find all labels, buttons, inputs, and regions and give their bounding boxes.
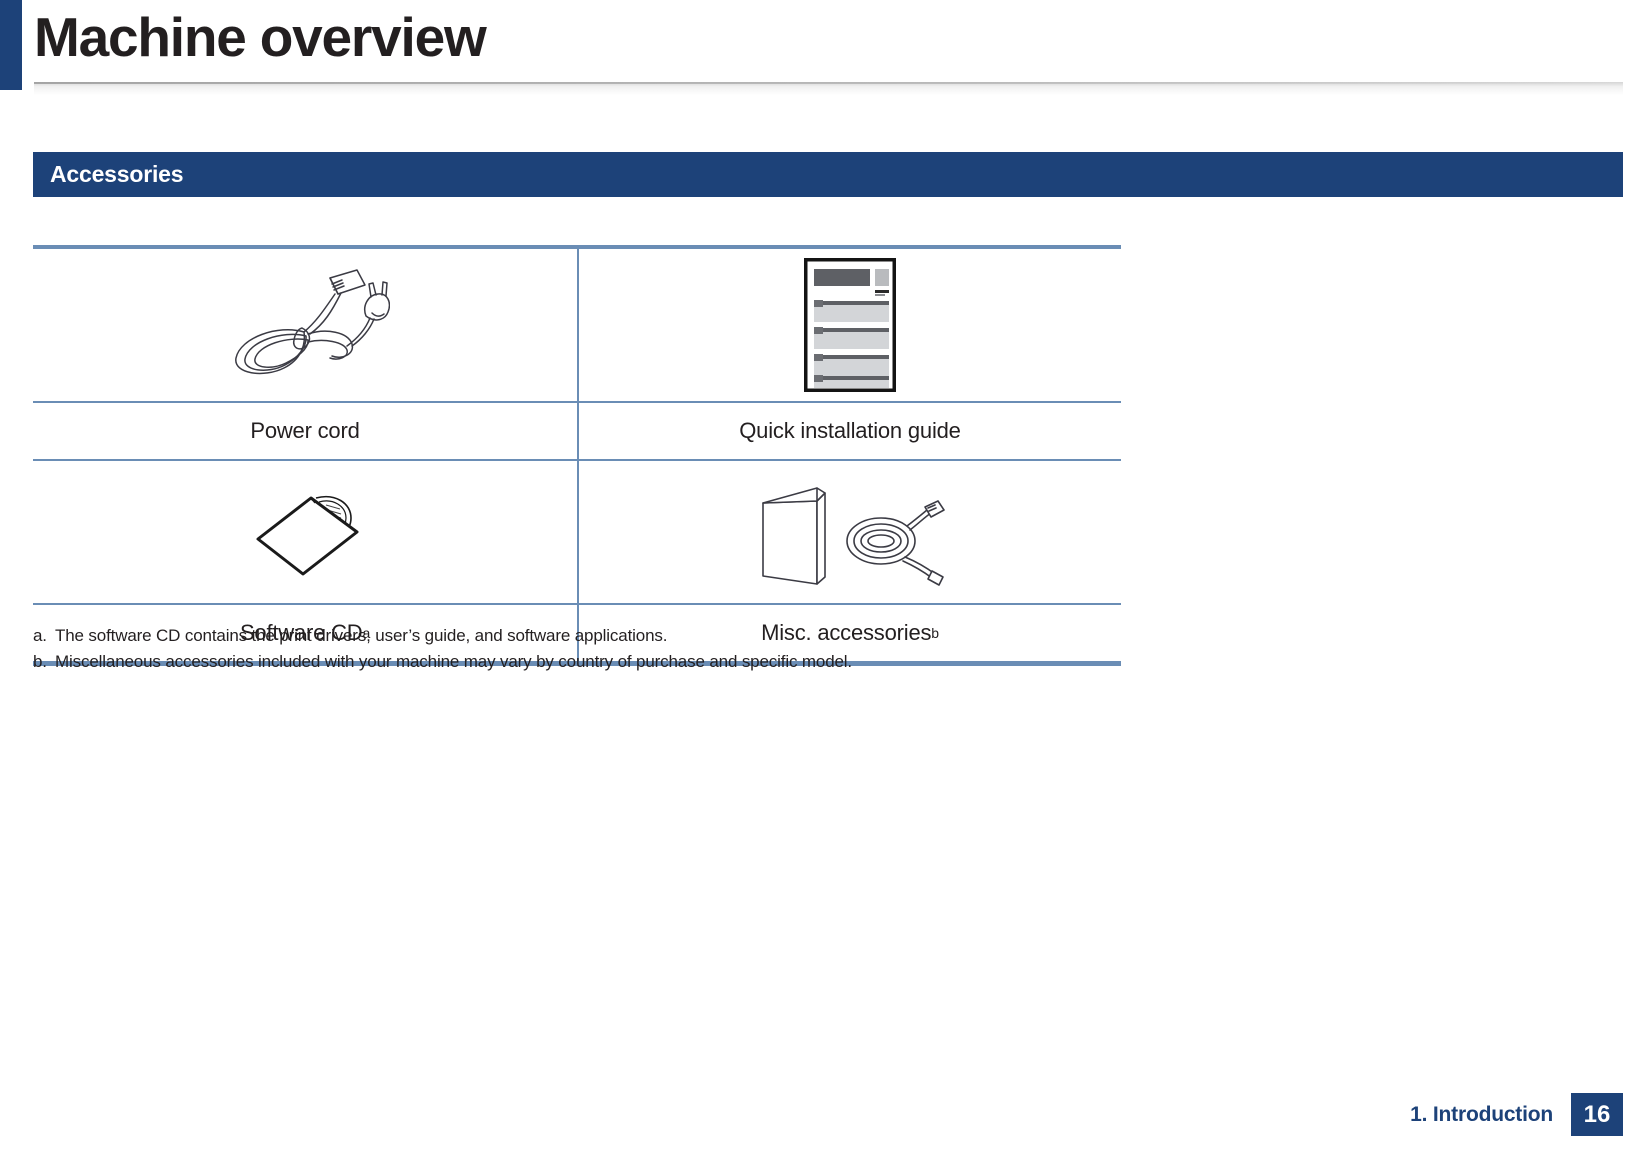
cell-label-text: Quick installation guide: [739, 418, 960, 444]
section-title: Accessories: [50, 152, 183, 197]
cell-label-text: Power cord: [250, 418, 359, 444]
page-title: Machine overview: [34, 0, 486, 76]
table-cell-image-misc-accessories: [577, 461, 1121, 603]
table-cell-image-quick-installation-guide: [577, 249, 1121, 401]
section-header-bar: Accessories: [33, 152, 1623, 197]
footnote-a: a.The software CD contains the print dri…: [33, 623, 1133, 649]
table-row: [33, 249, 1121, 401]
footnotes: a.The software CD contains the print dri…: [33, 623, 1133, 675]
footnote-b: b.Miscellaneous accessories included wit…: [33, 649, 1133, 675]
table-row: Power cord Quick installation guide: [33, 403, 1121, 459]
table-cell-label-power-cord: Power cord: [33, 403, 577, 459]
footer-page-number: 16: [1571, 1093, 1623, 1136]
table-cell-image-software-cd: [33, 461, 577, 603]
footnote-a-text: The software CD contains the print drive…: [55, 626, 667, 645]
footnote-b-marker: b.: [33, 649, 55, 675]
header-accent-bar: [0, 0, 22, 90]
footer-chapter-label: 1. Introduction: [1410, 1093, 1571, 1136]
misc-accessories-icon: [755, 477, 945, 587]
quick-installation-guide-icon: [804, 258, 896, 392]
header-divider: [34, 82, 1623, 95]
footnote-a-marker: a.: [33, 623, 55, 649]
accessories-table: Power cord Quick installation guide: [33, 245, 1121, 666]
table-row: [33, 461, 1121, 603]
page-footer: 1. Introduction 16: [1410, 1093, 1623, 1136]
software-cd-icon: [249, 487, 361, 577]
power-cord-icon: [220, 266, 390, 384]
table-cell-image-power-cord: [33, 249, 577, 401]
footnote-b-text: Miscellaneous accessories included with …: [55, 652, 852, 671]
table-cell-label-quick-installation-guide: Quick installation guide: [577, 403, 1121, 459]
document-page: Machine overview Accessories: [0, 0, 1650, 1158]
